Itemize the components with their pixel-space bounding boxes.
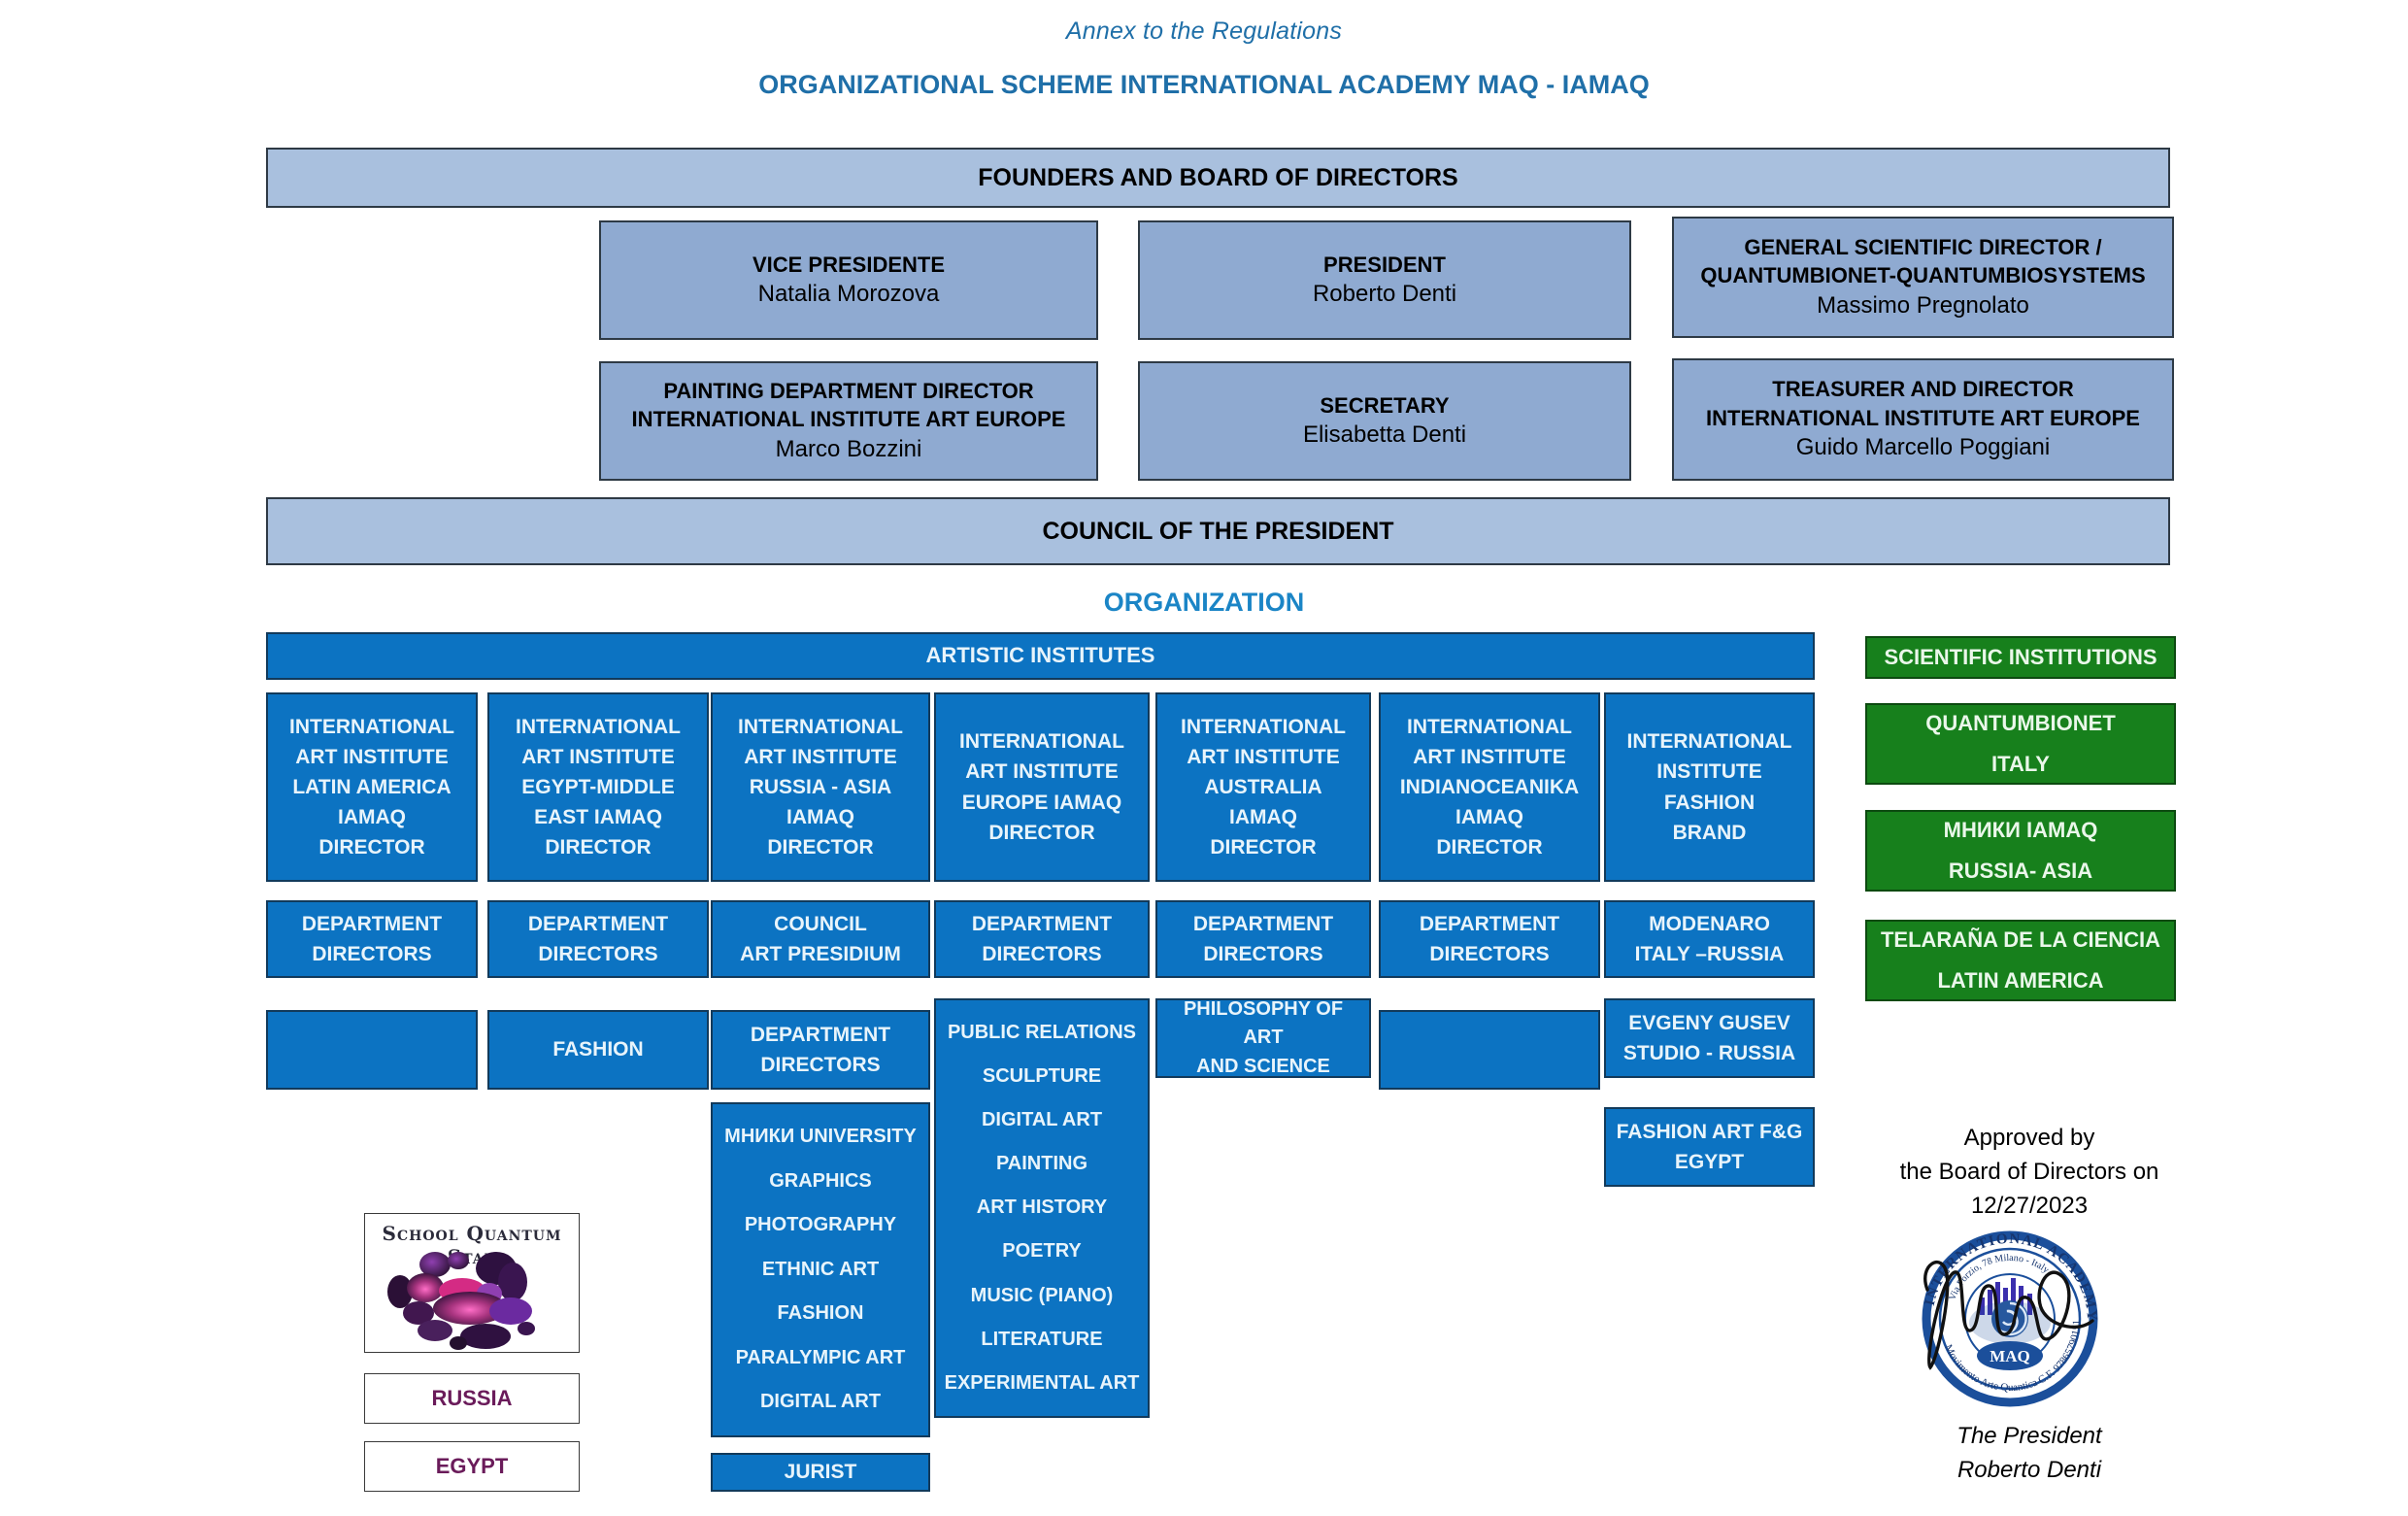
box-line: EGYPT: [1610, 1147, 1809, 1177]
country-box-egypt[interactable]: EGYPT: [364, 1441, 580, 1492]
board-member-painting-department-director[interactable]: PAINTING DEPARTMENT DIRECTOR INTERNATION…: [599, 361, 1098, 481]
signer-name: Roberto Denti: [1874, 1454, 2185, 1488]
role-line-2: INTERNATIONAL INSTITUTE ART EUROPE: [1706, 404, 2140, 432]
department-line: ETHNIC ART: [717, 1256, 924, 1285]
founders-banner-label: FOUNDERS AND BOARD OF DIRECTORS: [978, 164, 1457, 192]
box-line: DEPARTMENT: [940, 909, 1144, 939]
person-name: Massimo Pregnolato: [1817, 290, 2029, 321]
box-line: AND SCIENCE: [1161, 1053, 1365, 1082]
council-of-the-president-banner[interactable]: COUNCIL OF THE PRESIDENT: [266, 497, 2170, 565]
artistic-institutes-label: ARTISTIC INSTITUTES: [926, 643, 1155, 668]
box-line: PHILOSOPHY OF ART: [1161, 995, 1365, 1053]
department-directors-indianoceanika[interactable]: DEPARTMENT DIRECTORS: [1379, 900, 1600, 978]
institute-line: DIRECTOR: [1161, 832, 1365, 862]
role-line-1: PRESIDENT: [1323, 251, 1446, 279]
institute-line: ART INSTITUTE: [272, 742, 472, 772]
evgeny-gusev-studio-russia[interactable]: EVGENY GUSEV STUDIO - RUSSIA: [1604, 998, 1815, 1078]
box-line: DEPARTMENT: [493, 909, 703, 939]
box-line: MODENARO: [1610, 909, 1809, 939]
mniki-university-departments[interactable]: МНИКИ UNIVERSITY GRAPHICS PHOTOGRAPHY ET…: [711, 1102, 930, 1437]
fashion-egypt[interactable]: FASHION: [487, 1010, 709, 1090]
board-member-secretary[interactable]: SECRETARY Elisabetta Denti: [1138, 361, 1631, 481]
approval-line-2: the Board of Directors on: [1874, 1156, 2185, 1190]
institute-line: ART INSTITUTE: [1161, 742, 1365, 772]
box-line: DEPARTMENT: [1161, 909, 1365, 939]
box-line: DIRECTORS: [717, 1050, 924, 1080]
board-member-vice-president[interactable]: VICE PRESIDENTE Natalia Morozova: [599, 220, 1098, 340]
board-member-treasurer[interactable]: TREASURER AND DIRECTOR INTERNATIONAL INS…: [1672, 358, 2174, 481]
institute-fashion-brand[interactable]: INTERNATIONAL INSTITUTE FASHION BRAND: [1604, 692, 1815, 882]
department-directors-egypt[interactable]: DEPARTMENT DIRECTORS: [487, 900, 709, 978]
role-line-2: INTERNATIONAL INSTITUTE ART EUROPE: [632, 405, 1066, 433]
box-line: ITALY: [1871, 744, 2170, 785]
svg-text:MAQ: MAQ: [1990, 1347, 2030, 1365]
institute-line: DIRECTOR: [493, 832, 703, 862]
person-name: Roberto Denti: [1313, 279, 1456, 310]
institute-line: ART INSTITUTE: [493, 742, 703, 772]
box-line: RUSSIA- ASIA: [1871, 851, 2170, 892]
institute-line: ART INSTITUTE: [717, 742, 924, 772]
institute-line: AUSTRALIA: [1161, 772, 1365, 802]
box-line: DEPARTMENT: [272, 909, 472, 939]
institute-latin-america[interactable]: INTERNATIONAL ART INSTITUTE LATIN AMERIC…: [266, 692, 478, 882]
country-label: RUSSIA: [431, 1386, 512, 1411]
annex-note: Annex to the Regulations: [0, 17, 2408, 46]
person-name: Elisabetta Denti: [1303, 420, 1466, 451]
role-line-1: GENERAL SCIENTIFIC DIRECTOR /: [1744, 233, 2101, 261]
person-name: Marco Bozzini: [776, 434, 922, 465]
department-line: МНИКИ UNIVERSITY: [717, 1123, 924, 1152]
institute-egypt-middle-east[interactable]: INTERNATIONAL ART INSTITUTE EGYPT-MIDDLE…: [487, 692, 709, 882]
institute-line: BRAND: [1610, 818, 1809, 848]
department-line: DIGITAL ART: [940, 1106, 1144, 1135]
department-line: POETRY: [940, 1237, 1144, 1266]
department-directors-australia[interactable]: DEPARTMENT DIRECTORS: [1155, 900, 1371, 978]
department-directors-russia-asia[interactable]: DEPARTMENT DIRECTORS: [711, 1010, 930, 1090]
box-line: МНИКИ IAMAQ: [1871, 810, 2170, 851]
box-line: STUDIO - RUSSIA: [1610, 1038, 1809, 1068]
approval-text: Approved by the Board of Directors on 12…: [1874, 1122, 2185, 1223]
box-line: DIRECTORS: [1385, 939, 1594, 969]
institute-line: IAMAQ: [1385, 802, 1594, 832]
institute-line: EUROPE IAMAQ: [940, 788, 1144, 818]
institute-line: INSTITUTE: [1610, 757, 1809, 787]
board-member-president[interactable]: PRESIDENT Roberto Denti: [1138, 220, 1631, 340]
role-line-1: PAINTING DEPARTMENT DIRECTOR: [663, 377, 1033, 405]
institute-australia[interactable]: INTERNATIONAL ART INSTITUTE AUSTRALIA IA…: [1155, 692, 1371, 882]
box-line: DIRECTORS: [272, 939, 472, 969]
institute-indianoceanika[interactable]: INTERNATIONAL ART INSTITUTE INDIANOCEANI…: [1379, 692, 1600, 882]
institute-line: EGYPT-MIDDLE: [493, 772, 703, 802]
department-line: PARALYMPIC ART: [717, 1344, 924, 1373]
europe-departments[interactable]: PUBLIC RELATIONS SCULPTURE DIGITAL ART P…: [934, 998, 1150, 1418]
country-label: EGYPT: [436, 1454, 509, 1479]
institute-line: EAST IAMAQ: [493, 802, 703, 832]
box-line: LATIN AMERICA: [1871, 960, 2170, 1001]
department-line: ART HISTORY: [940, 1194, 1144, 1223]
box-line: FASHION ART F&G: [1610, 1117, 1809, 1147]
box-line: DIRECTORS: [1161, 939, 1365, 969]
institute-line: DIRECTOR: [717, 832, 924, 862]
institute-line: DIRECTOR: [272, 832, 472, 862]
modenaro-italy-russia[interactable]: MODENARO ITALY –RUSSIA: [1604, 900, 1815, 978]
institute-line: ART INSTITUTE: [1385, 742, 1594, 772]
role-line-1: TREASURER AND DIRECTOR: [1772, 375, 2073, 403]
empty-box-latin-america[interactable]: [266, 1010, 478, 1090]
department-directors-latin-america[interactable]: DEPARTMENT DIRECTORS: [266, 900, 478, 978]
institute-line: RUSSIA - ASIA: [717, 772, 924, 802]
department-line: PHOTOGRAPHY: [717, 1211, 924, 1240]
country-box-russia[interactable]: RUSSIA: [364, 1373, 580, 1424]
institute-russia-asia[interactable]: INTERNATIONAL ART INSTITUTE RUSSIA - ASI…: [711, 692, 930, 882]
box-line: TELARAÑA DE LA CIENCIA: [1871, 920, 2170, 960]
box-line: FASHION: [493, 1034, 703, 1064]
institute-europe[interactable]: INTERNATIONAL ART INSTITUTE EUROPE IAMAQ…: [934, 692, 1150, 882]
box-line: JURIST: [717, 1457, 924, 1487]
role-line-1: VICE PRESIDENTE: [752, 251, 945, 279]
council-art-presidium[interactable]: COUNCIL ART PRESIDIUM: [711, 900, 930, 978]
role-line-2: QUANTUMBIONET-QUANTUMBIOSYSTEMS: [1700, 261, 2145, 289]
approval-line-1: Approved by: [1874, 1122, 2185, 1156]
box-line: DIRECTORS: [940, 939, 1144, 969]
institute-line: IAMAQ: [717, 802, 924, 832]
person-name: Guido Marcello Poggiani: [1796, 432, 2050, 463]
scientific-mniki-iamaq-russia-asia[interactable]: МНИКИ IAMAQ RUSSIA- ASIA: [1865, 810, 2176, 892]
box-line: ART PRESIDIUM: [717, 939, 924, 969]
department-directors-europe[interactable]: DEPARTMENT DIRECTORS: [934, 900, 1150, 978]
department-line: FASHION: [717, 1299, 924, 1329]
institute-line: IAMAQ: [1161, 802, 1365, 832]
department-line: PAINTING: [940, 1150, 1144, 1179]
box-line: EVGENY GUSEV: [1610, 1008, 1809, 1038]
department-line: LITERATURE: [940, 1326, 1144, 1355]
jurist-box[interactable]: JURIST: [711, 1453, 930, 1492]
quantum-blob-artwork: [365, 1247, 580, 1353]
institute-line: INTERNATIONAL: [940, 726, 1144, 757]
institute-line: INDIANOCEANIKA: [1385, 772, 1594, 802]
role-line-1: SECRETARY: [1320, 391, 1449, 420]
scientific-telarana-de-la-ciencia-latin-america[interactable]: TELARAÑA DE LA CIENCIA LATIN AMERICA: [1865, 920, 2176, 1001]
organization-section-title: ORGANIZATION: [0, 588, 2408, 618]
institute-line: FASHION: [1610, 788, 1809, 818]
institute-line: DIRECTOR: [940, 818, 1144, 848]
page-title: ORGANIZATIONAL SCHEME INTERNATIONAL ACAD…: [0, 70, 2408, 100]
board-member-general-scientific-director[interactable]: GENERAL SCIENTIFIC DIRECTOR / QUANTUMBIO…: [1672, 217, 2174, 338]
council-banner-label: COUNCIL OF THE PRESIDENT: [1042, 518, 1393, 546]
signer-title: The President: [1874, 1420, 2185, 1454]
box-line: ITALY –RUSSIA: [1610, 939, 1809, 969]
philosophy-of-art-and-science[interactable]: PHILOSOPHY OF ART AND SCIENCE: [1155, 998, 1371, 1078]
institute-line: LATIN AMERICA: [272, 772, 472, 802]
institute-line: INTERNATIONAL: [272, 712, 472, 742]
founders-banner: FOUNDERS AND BOARD OF DIRECTORS: [266, 148, 2170, 208]
department-line: SCULPTURE: [940, 1062, 1144, 1092]
official-seal: INTERNATIONAL ACADEMY IAMAQ Via Porzio, …: [1898, 1214, 2122, 1418]
institute-line: IAMAQ: [272, 802, 472, 832]
empty-box-indianoceanika[interactable]: [1379, 1010, 1600, 1090]
box-line: DEPARTMENT: [1385, 909, 1594, 939]
institute-line: INTERNATIONAL: [1385, 712, 1594, 742]
department-line: MUSIC (PIANO): [940, 1282, 1144, 1311]
institute-line: INTERNATIONAL: [717, 712, 924, 742]
seal-graphic: INTERNATIONAL ACADEMY IAMAQ Via Porzio, …: [1898, 1214, 2122, 1418]
institute-line: INTERNATIONAL: [1161, 712, 1365, 742]
department-line: GRAPHICS: [717, 1167, 924, 1196]
scientific-institutions-header[interactable]: SCIENTIFIC INSTITUTIONS: [1865, 636, 2176, 679]
institute-line: DIRECTOR: [1385, 832, 1594, 862]
institute-line: ART INSTITUTE: [940, 757, 1144, 787]
department-line: EXPERIMENTAL ART: [940, 1369, 1144, 1398]
box-line: QUANTUMBIONET: [1871, 703, 2170, 744]
signature-block: The President Roberto Denti: [1874, 1420, 2185, 1488]
scientific-quantumbionet-italy[interactable]: QUANTUMBIONET ITALY: [1865, 703, 2176, 785]
box-line: DIRECTORS: [493, 939, 703, 969]
department-line: DIGITAL ART: [717, 1388, 924, 1417]
institute-line: INTERNATIONAL: [1610, 726, 1809, 757]
institute-line: INTERNATIONAL: [493, 712, 703, 742]
school-quantum-star-logo: School Quantum Star: [364, 1213, 580, 1353]
box-line: DEPARTMENT: [717, 1020, 924, 1050]
person-name: Natalia Morozova: [758, 279, 940, 310]
artistic-institutes-header[interactable]: ARTISTIC INSTITUTES: [266, 632, 1815, 680]
department-line: PUBLIC RELATIONS: [940, 1019, 1144, 1048]
scientific-institutions-label: SCIENTIFIC INSTITUTIONS: [1884, 645, 2157, 670]
box-line: COUNCIL: [717, 909, 924, 939]
fashion-art-fg-egypt[interactable]: FASHION ART F&G EGYPT: [1604, 1107, 1815, 1187]
